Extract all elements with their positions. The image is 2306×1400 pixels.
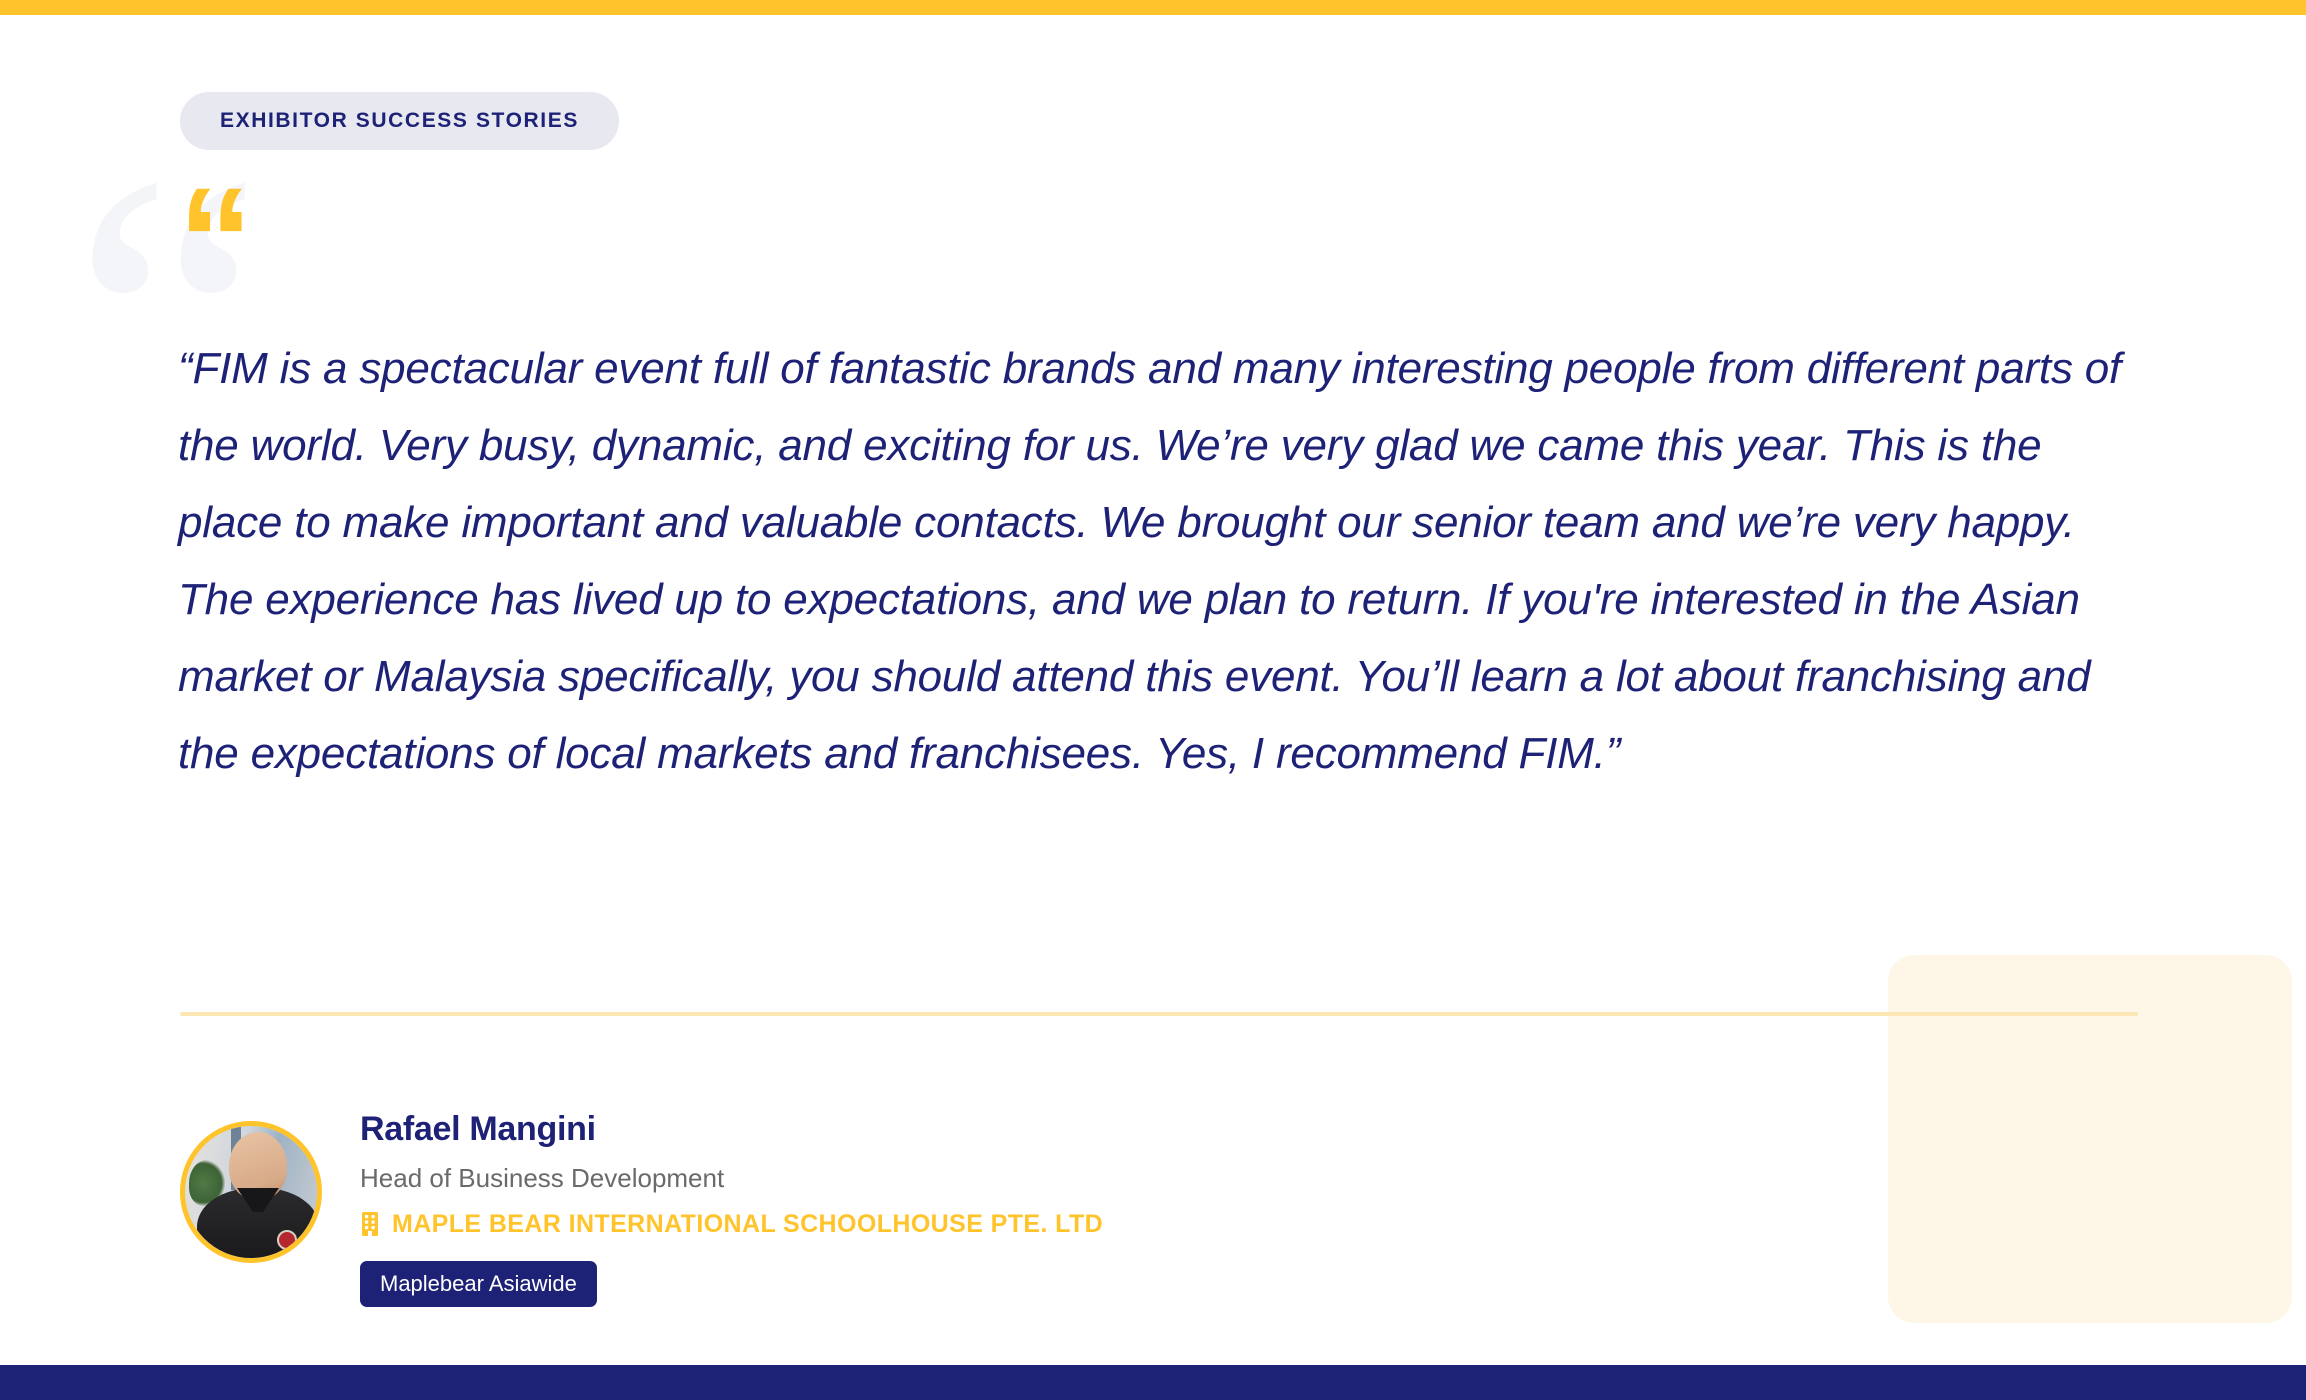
avatar-shirt-logo [277, 1230, 297, 1250]
quote-body: “FIM is a spectacular event full of fant… [178, 330, 2128, 792]
quote-text: “FIM is a spectacular event full of fant… [178, 330, 2128, 792]
attribution-block: Rafael Mangini Head of Business Developm… [180, 1105, 1103, 1307]
testimonial-slide: “ EXHIBITOR SUCCESS STORIES “ “FIM is a … [0, 0, 2306, 1400]
building-icon [360, 1211, 380, 1237]
company-name: MAPLE BEAR INTERNATIONAL SCHOOLHOUSE PTE… [392, 1210, 1103, 1239]
company-line: MAPLE BEAR INTERNATIONAL SCHOOLHOUSE PTE… [360, 1210, 1103, 1239]
decorative-cream-block [1888, 955, 2292, 1323]
person-info: Rafael Mangini Head of Business Developm… [360, 1105, 1103, 1307]
top-accent-bar [0, 0, 2306, 15]
person-name: Rafael Mangini [360, 1109, 1103, 1150]
eyebrow-label: EXHIBITOR SUCCESS STORIES [220, 109, 579, 133]
section-divider [180, 1012, 2138, 1016]
person-role: Head of Business Development [360, 1162, 1103, 1196]
bottom-accent-bar [0, 1365, 2306, 1400]
open-quote-icon: “ [178, 165, 247, 315]
eyebrow-pill: EXHIBITOR SUCCESS STORIES [180, 92, 619, 150]
avatar [180, 1121, 322, 1263]
company-tag-badge[interactable]: Maplebear Asiawide [360, 1261, 597, 1307]
